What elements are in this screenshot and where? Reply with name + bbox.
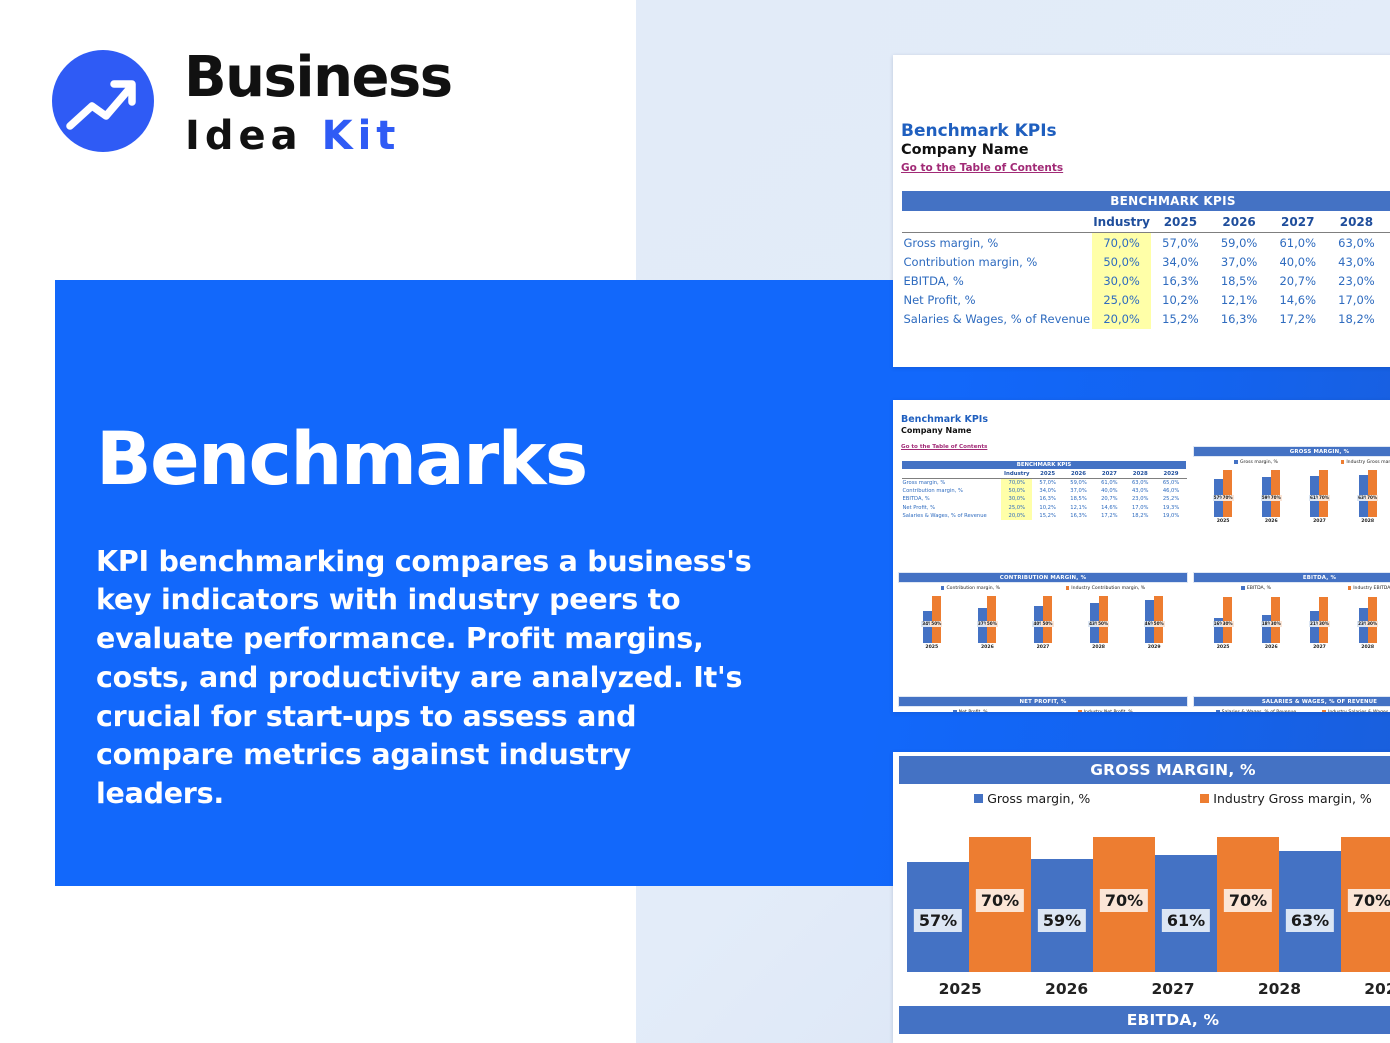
bar-company: 59%: [1031, 859, 1093, 972]
bar-industry: 30%: [1368, 597, 1377, 643]
bar-industry: 70%: [1271, 470, 1280, 517]
bar-value-label: 70%: [1348, 889, 1390, 912]
chart-ebitda-mini[interactable]: EBITDA, %EBITDA, %Industry EBITDA, %16%3…: [1193, 572, 1390, 692]
table-col-header: 2028: [1125, 470, 1156, 479]
xaxis-tick: 2029: [1148, 645, 1161, 650]
bar-industry: 70%: [969, 837, 1031, 972]
sheet-subtitle: Company Name: [901, 426, 1390, 435]
table-col-header: 2026: [1210, 212, 1269, 233]
mini-chart-title: CONTRIBUTION MARGIN, %: [898, 572, 1188, 583]
table-banner-row: BENCHMARK KPIS: [902, 191, 1390, 212]
table-cell: 15,2%: [1151, 310, 1210, 329]
bar-value-label: 70%: [1224, 889, 1272, 912]
bar-value-label: 30%: [1270, 621, 1282, 627]
table-row-label: Gross margin, %: [902, 233, 1093, 253]
bar-group: 18%30%: [1262, 591, 1280, 643]
bar-value-label: 50%: [930, 621, 942, 627]
legend-swatch-blue-icon: [941, 586, 945, 590]
legend-label-series2: Industry Gross margin, %: [1213, 791, 1372, 806]
table-cell: 10,2%: [1032, 504, 1063, 512]
table-row: Salaries & Wages, % of Revenue20,0%15,2%…: [902, 310, 1390, 329]
legend-swatch-orange-icon: [1341, 460, 1345, 464]
table-cell: 19,3%: [1386, 291, 1390, 310]
table-cell: 43,0%: [1125, 487, 1156, 495]
xaxis-tick: 2025: [925, 645, 938, 650]
table-cell: 14,6%: [1268, 291, 1327, 310]
table-col-header: 2025: [1151, 212, 1210, 233]
table-col-header: 2026: [1063, 470, 1094, 479]
table-cell: 34,0%: [1151, 252, 1210, 271]
legend-item-series2: Industry Net Profit, %: [1078, 710, 1133, 712]
table-row: Gross margin, %70,0%57,0%59,0%61,0%63,0%…: [902, 233, 1390, 253]
table-cell: 23,0%: [1327, 271, 1386, 290]
table-cell: 40,0%: [1268, 252, 1327, 271]
table-cell: 61,0%: [1268, 233, 1327, 253]
table-cell-industry: 30,0%: [1092, 271, 1151, 290]
table-row-label: Net Profit, %: [902, 504, 1002, 512]
table-row-label: Net Profit, %: [902, 291, 1093, 310]
mini-chart-xaxis: 20252026202720282029: [1193, 517, 1390, 524]
table-col-header: Industry: [1001, 470, 1032, 479]
bar-industry: 30%: [1271, 597, 1280, 643]
table-cell-industry: 30,0%: [1001, 495, 1032, 503]
mini-chart-legend: EBITDA, %Industry EBITDA, %: [1193, 583, 1390, 591]
table-row-label: EBITDA, %: [902, 271, 1093, 290]
legend-item-series2: Industry Gross margin, %: [1200, 791, 1372, 806]
table-cell: 19,3%: [1156, 504, 1187, 512]
bar-group: 21%30%: [1310, 591, 1328, 643]
table-of-contents-link[interactable]: Go to the Table of Contents: [901, 162, 1063, 174]
table-row-label: Salaries & Wages, % of Revenue: [902, 512, 1002, 520]
bar-value-label: 59%: [1038, 909, 1086, 932]
sheet-title: Benchmark KPIs: [901, 414, 1390, 425]
bar-group: 63%70%: [1359, 465, 1377, 517]
table-banner-row: BENCHMARK KPIS: [902, 461, 1187, 470]
bar-industry: 50%: [1154, 596, 1163, 642]
bar-industry: 30%: [1223, 597, 1232, 643]
table-cell: 18,2%: [1125, 512, 1156, 520]
table-col-header: 2028: [1327, 212, 1386, 233]
table-cell: 59,0%: [1063, 479, 1094, 488]
table-cell: 61,0%: [1094, 479, 1125, 488]
table-row-label: Contribution margin, %: [902, 487, 1002, 495]
table-cell: 40,0%: [1094, 487, 1125, 495]
xaxis-tick: 2027: [1313, 645, 1326, 650]
bar-value-label: 63%: [1286, 909, 1334, 932]
bar-group: 59%70%: [1031, 822, 1155, 972]
legend-swatch-orange-icon: [1078, 710, 1082, 712]
brand-name-idea: Idea: [185, 113, 303, 159]
table-cell: 34,0%: [1032, 487, 1063, 495]
table-cell: 65,0%: [1156, 479, 1187, 488]
table-cell: 43,0%: [1327, 252, 1386, 271]
table-cell: 23,0%: [1125, 495, 1156, 503]
xaxis-tick: 2026: [1265, 645, 1278, 650]
bar-industry: 70%: [1217, 837, 1279, 972]
mini-chart-legend: Salaries & Wages, % of RevenueIndustry S…: [1193, 707, 1390, 712]
table-cell: 19,0%: [1386, 310, 1390, 329]
bar-value-label: 70%: [976, 889, 1024, 912]
mini-chart-plot: 57%70%59%70%61%70%63%70%65%70%: [1193, 465, 1390, 517]
table-of-contents-link[interactable]: Go to the Table of Contents: [901, 444, 987, 450]
legend-item-series1: Net Profit, %: [953, 710, 987, 712]
table-cell: 16,3%: [1032, 495, 1063, 503]
mini-chart-title: GROSS MARGIN, %: [1193, 446, 1390, 457]
table-cell: 19,0%: [1156, 512, 1187, 520]
bar-value-label: 70%: [1270, 495, 1282, 501]
chart-legend-gross-margin: Gross margin, % Industry Gross margin, %: [893, 784, 1390, 806]
bar-industry: 70%: [1368, 470, 1377, 517]
mini-chart-legend: Contribution margin, %Industry Contribut…: [898, 583, 1188, 591]
mini-chart-plot: 34%50%37%50%40%50%43%50%46%50%: [898, 591, 1188, 643]
table-cell: 25,2%: [1156, 495, 1187, 503]
bar-group: 59%70%: [1262, 465, 1280, 517]
table-col-header: 2029: [1156, 470, 1187, 479]
growth-arrow-icon: [52, 50, 154, 152]
bar-value-label: 70%: [1100, 889, 1148, 912]
legend-swatch-blue-icon: [974, 794, 983, 803]
bar-value-label: 30%: [1366, 621, 1378, 627]
brand-logo: Business Idea Kit: [52, 42, 472, 160]
table-row-label: Gross margin, %: [902, 479, 1002, 488]
xaxis-tick: 2027: [1037, 645, 1050, 650]
xaxis-tick: 2026: [1265, 519, 1278, 524]
hero-text-block: Benchmarks KPI benchmarking compares a b…: [96, 422, 796, 814]
table-row: Gross margin, %70,0%57,0%59,0%61,0%63,0%…: [902, 479, 1187, 488]
table-cell: 46,0%: [1386, 252, 1390, 271]
bar-group: 61%70%: [1310, 465, 1328, 517]
xaxis-tick: 2029: [1333, 980, 1390, 998]
xaxis-tick: 2028: [1092, 645, 1105, 650]
table-col-header: 2029: [1386, 212, 1390, 233]
table-cell: 46,0%: [1156, 487, 1187, 495]
chart-plot-gross-margin: 57%70%59%70%61%70%63%70%65%70%: [893, 822, 1390, 972]
table-col-header: 2027: [1094, 470, 1125, 479]
chart-legend-ebitda: EBITDA, % Industry EBITDA, %: [893, 1034, 1390, 1043]
bar-value-label: 50%: [1153, 621, 1165, 627]
legend-item-series1: Salaries & Wages, % of Revenue: [1216, 710, 1296, 712]
xaxis-tick: 2028: [1361, 645, 1374, 650]
hero-description: KPI benchmarking compares a business's k…: [96, 543, 768, 814]
mini-chart-title: NET PROFIT, %: [898, 696, 1188, 707]
legend-swatch-orange-icon: [1066, 586, 1070, 590]
brand-name-line1: Business: [184, 50, 452, 106]
bar-value-label: 61%: [1162, 909, 1210, 932]
bar-industry: 50%: [1099, 596, 1108, 642]
table-row: Contribution margin, %50,0%34,0%37,0%40,…: [902, 487, 1187, 495]
bar-company: 34%: [923, 611, 932, 643]
brand-name-line2: Idea Kit: [185, 116, 400, 156]
legend-item-series2: Industry Salaries & Wages, % of Revenue: [1322, 710, 1390, 712]
bar-industry: 70%: [1341, 837, 1390, 972]
bar-industry: 50%: [932, 596, 941, 642]
xaxis-tick: 2026: [981, 645, 994, 650]
bar-group: 23%30%: [1359, 591, 1377, 643]
table-row-label: EBITDA, %: [902, 495, 1002, 503]
bar-company: 18%: [1262, 615, 1271, 643]
mini-chart-title: EBITDA, %: [1193, 572, 1390, 583]
bar-value-label: 50%: [986, 621, 998, 627]
bar-group: 63%70%: [1279, 822, 1390, 972]
dashboard-card: Benchmark KPIs Company Name Go to the Ta…: [893, 400, 1390, 712]
table-cell: 17,0%: [1327, 291, 1386, 310]
table-cell: 18,5%: [1063, 495, 1094, 503]
table-cell: 17,2%: [1094, 512, 1125, 520]
bar-group: 57%70%: [907, 822, 1031, 972]
table-cell: 63,0%: [1327, 233, 1386, 253]
table-row-label: Salaries & Wages, % of Revenue: [902, 310, 1093, 329]
table-cell-industry: 70,0%: [1092, 233, 1151, 253]
bar-value-label: 57%: [914, 909, 962, 932]
table-row: EBITDA, %30,0%16,3%18,5%20,7%23,0%25,2%: [902, 271, 1390, 290]
chart-net-profit-banner[interactable]: NET PROFIT, %Net Profit, %Industry Net P…: [898, 696, 1188, 712]
xaxis-tick: 2026: [1013, 980, 1119, 998]
sheet-subtitle: Company Name: [901, 142, 1390, 158]
table-cell-industry: 20,0%: [1092, 310, 1151, 329]
bar-industry: 70%: [1319, 470, 1328, 517]
bar-value-label: 50%: [1041, 621, 1053, 627]
table-cell-industry: 25,0%: [1092, 291, 1151, 310]
table-col-header: 2027: [1268, 212, 1327, 233]
benchmark-kpi-table: BENCHMARK KPISIndustry202520262027202820…: [901, 460, 1187, 520]
table-row: EBITDA, %30,0%16,3%18,5%20,7%23,0%25,2%: [902, 495, 1187, 503]
table-cell: 17,2%: [1268, 310, 1327, 329]
table-col-header: 2025: [1032, 470, 1063, 479]
xaxis-tick: 2028: [1361, 519, 1374, 524]
xaxis-tick: 2027: [1313, 519, 1326, 524]
table-cell-industry: 50,0%: [1001, 487, 1032, 495]
legend-swatch-blue-icon: [953, 710, 957, 712]
table-cell: 16,3%: [1210, 310, 1269, 329]
table-cell: 18,5%: [1210, 271, 1269, 290]
table-cell: 12,1%: [1063, 504, 1094, 512]
table-cell: 37,0%: [1210, 252, 1269, 271]
table-header-row: Industry20252026202720282029: [902, 470, 1187, 479]
table-row: Contribution margin, %50,0%34,0%37,0%40,…: [902, 252, 1390, 271]
mini-chart-plot: 16%30%18%30%21%30%23%30%25%30%: [1193, 591, 1390, 643]
table-cell-industry: 70,0%: [1001, 479, 1032, 488]
bar-value-label: 30%: [1318, 621, 1330, 627]
bar-industry: 70%: [1223, 470, 1232, 517]
xaxis-tick: 2028: [1226, 980, 1332, 998]
table-cell: 57,0%: [1032, 479, 1063, 488]
chart-title-gross-margin: GROSS MARGIN, %: [899, 756, 1390, 784]
legend-swatch-blue-icon: [1241, 586, 1245, 590]
chart-title-ebitda: EBITDA, %: [899, 1006, 1390, 1034]
legend-item-series1: Gross margin, %: [974, 791, 1090, 806]
chart-contribution-margin-mini[interactable]: CONTRIBUTION MARGIN, %Contribution margi…: [898, 572, 1188, 692]
gross-margin-chart-card: GROSS MARGIN, % Gross margin, % Industry…: [893, 752, 1390, 1043]
table-row: Net Profit, %25,0%10,2%12,1%14,6%17,0%19…: [902, 504, 1187, 512]
table-cell: 37,0%: [1063, 487, 1094, 495]
table-cell-industry: 50,0%: [1092, 252, 1151, 271]
xaxis-tick: 2027: [1120, 980, 1226, 998]
table-cell: 59,0%: [1210, 233, 1269, 253]
page-title: Benchmarks: [96, 422, 796, 499]
legend-label-series1: Gross margin, %: [987, 791, 1090, 806]
table-cell: 16,3%: [1151, 271, 1210, 290]
bar-industry: 30%: [1319, 597, 1328, 643]
xaxis-tick: 2025: [1217, 645, 1230, 650]
table-header-row: Industry20252026202720282029: [902, 212, 1390, 233]
table-cell: 15,2%: [1032, 512, 1063, 520]
bar-value-label: 70%: [1222, 495, 1234, 501]
mini-chart-xaxis: 20252026202720282029: [898, 643, 1188, 650]
chart-gross-margin-mini[interactable]: GROSS MARGIN, %Gross margin, %Industry G…: [1193, 446, 1390, 566]
kpi-table-card: Benchmark KPIs Company Name Go to the Ta…: [893, 55, 1390, 367]
bar-value-label: 70%: [1318, 495, 1330, 501]
table-cell: 25,2%: [1386, 271, 1390, 290]
table-cell: 14,6%: [1094, 504, 1125, 512]
table-row: Net Profit, %25,0%10,2%12,1%14,6%17,0%19…: [902, 291, 1390, 310]
mini-chart-xaxis: 20252026202720282029: [1193, 643, 1390, 650]
bar-company: 63%: [1279, 851, 1341, 972]
bar-group: 57%70%: [1214, 465, 1232, 517]
table-cell: 57,0%: [1151, 233, 1210, 253]
table-cell: 20,7%: [1268, 271, 1327, 290]
table-cell: 63,0%: [1125, 479, 1156, 488]
table-cell: 10,2%: [1151, 291, 1210, 310]
bar-company: 57%: [907, 862, 969, 972]
table-cell: 20,7%: [1094, 495, 1125, 503]
legend-swatch-orange-icon: [1348, 586, 1352, 590]
mini-chart-title: SALARIES & WAGES, % OF REVENUE: [1193, 696, 1390, 707]
mini-chart-legend: Gross margin, %Industry Gross margin, %: [1193, 457, 1390, 465]
xaxis-tick: 2025: [1217, 519, 1230, 524]
bar-group: 37%50%: [978, 591, 996, 643]
legend-swatch-blue-icon: [1234, 460, 1238, 464]
legend-swatch-blue-icon: [1216, 710, 1220, 712]
bar-group: 61%70%: [1155, 822, 1279, 972]
bar-value-label: 50%: [1097, 621, 1109, 627]
chart-xaxis-gross-margin: 20252026202720282029: [893, 972, 1390, 998]
mini-chart-legend: Net Profit, %Industry Net Profit, %: [898, 707, 1188, 712]
table-cell: 16,3%: [1063, 512, 1094, 520]
table-cell-industry: 20,0%: [1001, 512, 1032, 520]
bar-industry: 70%: [1093, 837, 1155, 972]
bar-group: 16%30%: [1214, 591, 1232, 643]
table-cell: 12,1%: [1210, 291, 1269, 310]
xaxis-tick: 2025: [907, 980, 1013, 998]
table-col-header: Industry: [1092, 212, 1151, 233]
bar-value-label: 30%: [1222, 621, 1234, 627]
benchmark-kpi-table: BENCHMARK KPISIndustry202520262027202820…: [901, 190, 1390, 329]
table-row-label: Contribution margin, %: [902, 252, 1093, 271]
legend-swatch-orange-icon: [1322, 710, 1326, 712]
brand-name-kit: Kit: [322, 113, 401, 159]
table-cell: 65,0%: [1386, 233, 1390, 253]
table-cell: 18,2%: [1327, 310, 1386, 329]
table-row: Salaries & Wages, % of Revenue20,0%15,2%…: [902, 512, 1187, 520]
bar-group: 46%50%: [1145, 591, 1163, 643]
legend-swatch-orange-icon: [1200, 794, 1209, 803]
bar-value-label: 70%: [1366, 495, 1378, 501]
table-cell: 17,0%: [1125, 504, 1156, 512]
table-cell-industry: 25,0%: [1001, 504, 1032, 512]
bar-group: 43%50%: [1090, 591, 1108, 643]
bar-group: 34%50%: [923, 591, 941, 643]
bar-industry: 50%: [987, 596, 996, 642]
bar-industry: 50%: [1043, 596, 1052, 642]
bar-group: 40%50%: [1034, 591, 1052, 643]
chart-salaries-wages-banner[interactable]: SALARIES & WAGES, % OF REVENUESalaries &…: [1193, 696, 1390, 712]
sheet-title: Benchmark KPIs: [901, 121, 1390, 141]
bar-company: 61%: [1155, 855, 1217, 972]
